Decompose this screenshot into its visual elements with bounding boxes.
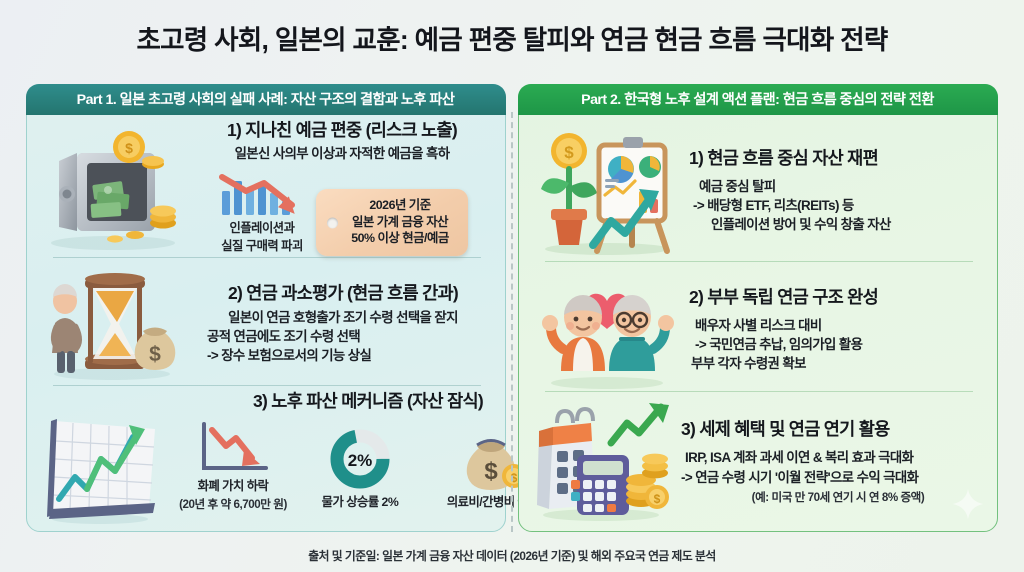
part1-item-1-sub: 일본신 사의부 이상과 자적한 예금을 흑하 — [191, 144, 493, 163]
part2-item-1-heading: 1) 현금 흐름 중심 자산 재편 — [689, 148, 987, 169]
hourglass-elderly-moneybag-icon: $ — [37, 267, 187, 381]
part2-item-1-line-1: 예금 중심 탈피 — [689, 177, 987, 196]
part1-item-1-chart-caption-1: 인플레이션과 — [230, 220, 295, 238]
part1-item-2-sub-1: 일본이 연금 호형출가 조기 수령 선택을 잗지 — [193, 308, 493, 327]
donut-chart-icon: 2% — [329, 428, 391, 490]
part1-item-3-heading: 3) 노후 파산 메커니즘 (자산 잠식) — [165, 391, 561, 412]
part1-item-1-chart-caption-2: 실질 구매력 파괴 — [221, 238, 303, 256]
part2-item-2-line-2: -> 국민연금 추납, 임의가입 활용 — [689, 335, 987, 354]
part2-item-3-heading: 3) 세제 혜택 및 연금 연기 활용 — [681, 419, 989, 440]
part2-separator-2 — [545, 391, 973, 392]
japan-cash-ratio-tag: 2026년 기준 일본 가계 금융 자산 50% 이상 현금/예금 — [316, 189, 468, 256]
part1-item-2-sub-2: 공적 연금에도 조기 수령 선택 — [193, 327, 493, 346]
part2-item-1-line-3: 인플레이션 방어 및 수익 창출 자산 — [689, 215, 987, 234]
part2-item-2-heading: 2) 부부 독립 연금 구조 완성 — [689, 287, 987, 308]
part1-metric-inflation-rate: 2% 물가 상승률 2% — [305, 428, 415, 512]
tag-line-1: 2026년 기준 — [338, 197, 462, 214]
svg-text:$: $ — [564, 143, 574, 162]
tag-line-3: 50% 이상 현금/예금 — [338, 230, 462, 247]
svg-text:$: $ — [484, 458, 498, 485]
part1-item-2: $ 2) 연금 과소평가 (현금 흐름 간과) 일본이 연금 호형출가 조기 수… — [27, 265, 507, 383]
sparkle-icon — [953, 489, 983, 519]
part1-item-1-heading: 1) 지나친 예금 편중 (리스크 노출) — [191, 120, 493, 141]
calendar-calculator-coins-icon: $ — [529, 401, 679, 523]
part1-metric-2-label: 물가 상승률 2% — [322, 494, 399, 512]
page-title: 초고령 사회, 일본의 교훈: 예금 편중 탈피와 연금 현금 흐름 극대화 전… — [0, 18, 1024, 57]
part2-panel: Part 2. 한국형 노후 설계 액션 플랜: 현금 흐름 중심의 전략 전환… — [518, 84, 998, 532]
part2-item-1: $ — [519, 121, 999, 261]
part2-item-2: 2) 부부 독립 연금 구조 완성 배우자 사별 리스크 대비 -> 국민연금 … — [519, 269, 999, 391]
part2-separator-1 — [545, 261, 973, 262]
safe-with-cash-icon: $ — [37, 123, 187, 253]
tag-line-2: 일본 가계 금융 자산 — [338, 214, 462, 231]
part1-item-3: 3) 노후 파산 메커니즘 (자산 잠식) 화폐 가치 하락 (20년 후 약 … — [27, 391, 507, 529]
elderly-couple-heart-icon — [531, 271, 683, 389]
svg-text:2%: 2% — [348, 451, 373, 470]
declining-bar-chart-icon — [216, 169, 308, 219]
money-plant-chart-easel-icon: $ — [531, 125, 683, 257]
part2-item-3-line-1: IRP, ISA 계좌 과세 이연 & 복리 효과 극대화 — [681, 448, 989, 467]
part1-panel: Part 1. 일본 초고령 사회의 실패 사례: 자산 구조의 결함과 노후 … — [26, 84, 506, 532]
part1-item-1: $ 1) 지나친 예금 편중 (리스크 노출) 일본신 사의부 이상과 자적한 … — [27, 119, 507, 257]
part1-separator-1 — [53, 257, 481, 258]
part2-item-3-note: (예: 미국 만 70세 연기 시 연 8% 증액) — [681, 489, 989, 505]
part2-item-1-line-2: -> 배당형 ETF, 리츠(REITs) 등 — [689, 196, 987, 215]
part1-metric-currency-decline: 화폐 가치 하락 (20년 후 약 6,700만 원) — [175, 420, 291, 512]
down-arrow-chart-icon — [196, 420, 270, 476]
part1-item-2-heading: 2) 연금 과소평가 (현금 흐름 간과) — [193, 283, 493, 304]
panel-divider — [511, 112, 513, 532]
money-bag-coin-icon: $ $ — [459, 432, 527, 492]
svg-text:$: $ — [654, 492, 661, 506]
part1-item-1-inflation-block: 인플레이션과 실질 구매력 파괴 — [216, 169, 308, 256]
part2-item-2-line-1: 배우자 사별 리스크 대비 — [689, 316, 987, 335]
part2-header: Part 2. 한국형 노후 설계 액션 플랜: 현금 흐름 중심의 전략 전환 — [518, 84, 998, 115]
part1-metric-1-label: 화폐 가치 하락 — [198, 478, 269, 496]
rising-line-chart-board-icon — [35, 391, 165, 533]
part1-header: Part 1. 일본 초고령 사회의 실패 사례: 자산 구조의 결함과 노후 … — [26, 84, 506, 115]
source-footnote: 출처 및 기준일: 일본 가계 금융 자산 데이터 (2026년 기준) 및 해… — [0, 547, 1024, 564]
part1-separator-2 — [53, 385, 481, 386]
svg-text:$: $ — [125, 140, 133, 156]
part2-item-3: $ 3) 세제 혜택 및 연금 연기 활용 IRP, ISA 계좌 과세 이연 … — [519, 399, 999, 525]
part2-item-2-line-3: 부부 각자 수령권 확보 — [689, 354, 987, 373]
part1-item-2-sub-3: -> 장수 보험으로서의 기능 상실 — [193, 346, 493, 365]
part2-item-3-line-2: -> 연금 수령 시기 '이월 전략'으로 수익 극대화 — [681, 468, 989, 487]
svg-text:$: $ — [149, 343, 161, 366]
part1-metric-1-note: (20년 후 약 6,700만 원) — [179, 496, 287, 512]
